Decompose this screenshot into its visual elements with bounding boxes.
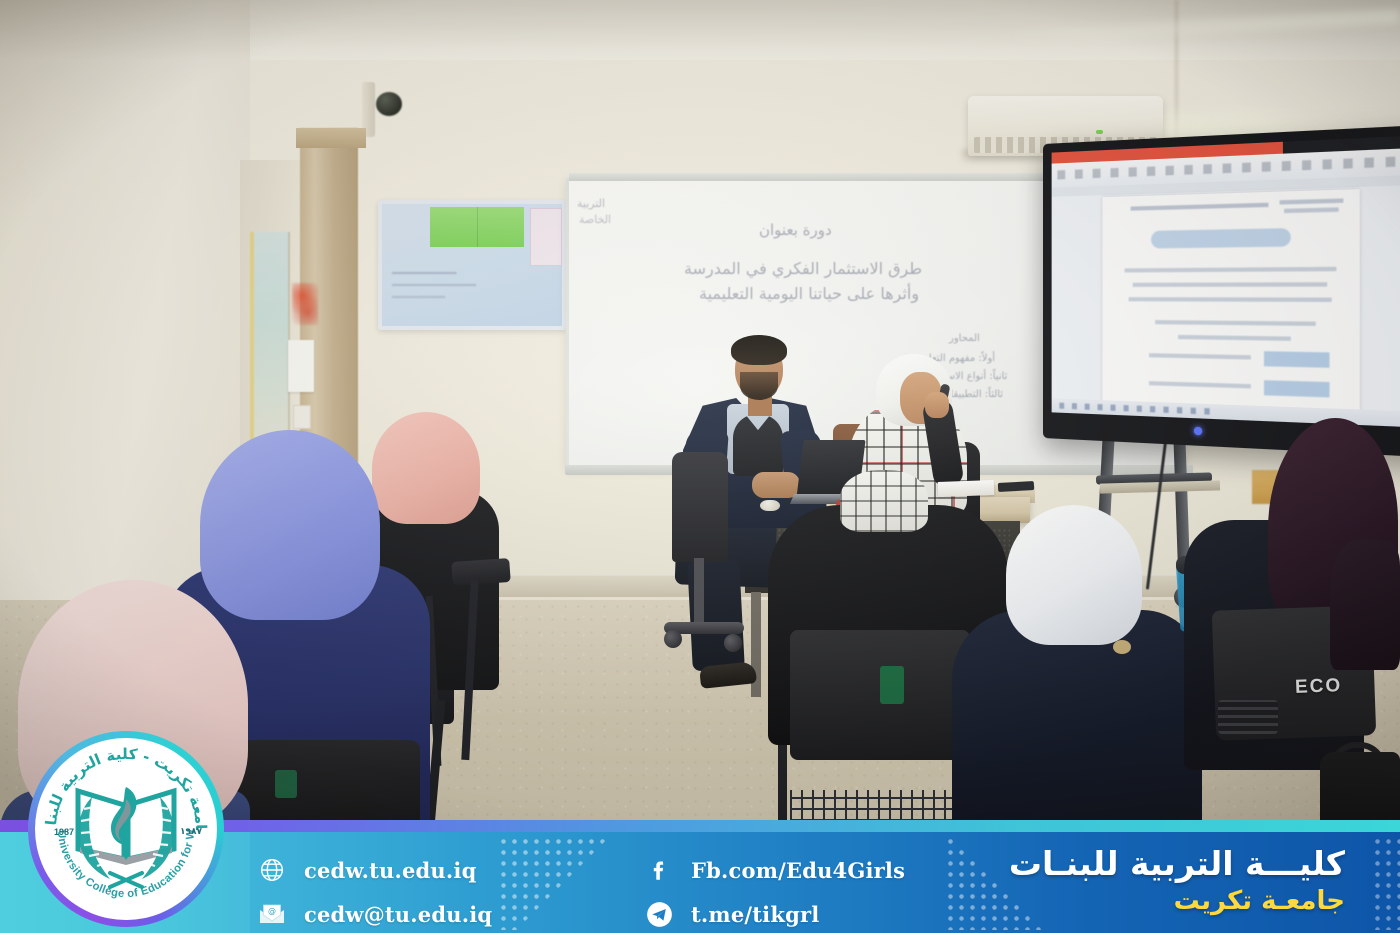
student-4-hijab-checked <box>840 470 928 532</box>
university-logo[interactable]: جامعة تكريت - كلية التربية للبنات Tikrit… <box>28 731 224 927</box>
whiteboard-side-note-1: المحاور <box>949 333 980 344</box>
doc-text-line <box>1155 320 1316 326</box>
doc-signature-field-1 <box>1264 351 1329 368</box>
dot-pattern-left <box>498 836 620 930</box>
student-chair-seat-3 <box>451 558 511 586</box>
chair-brand-label: ECO <box>1295 675 1343 699</box>
facebook-label: Fb.com/Edu4Girls <box>691 858 905 883</box>
whiteboard-corner-note-2: الخاصة <box>579 213 611 226</box>
doc-header-right-2 <box>1284 207 1339 213</box>
facebook-icon <box>645 856 673 884</box>
presenter-man-beard <box>740 372 778 400</box>
office-chair-caster-2 <box>724 634 742 652</box>
whiteboard-line-2: وأثرها على حياتنا اليومية التعليمية <box>699 284 919 303</box>
contact-website[interactable]: cedw.tu.edu.iq <box>258 856 492 884</box>
small-noticeboard <box>378 200 566 330</box>
student-3-hijab-pink <box>372 412 480 524</box>
student-chair-4-sticker <box>880 666 904 704</box>
contact-telegram[interactable]: t.me/tikgrl <box>645 900 905 928</box>
door-frame-top <box>296 128 366 148</box>
svg-text:@: @ <box>268 907 276 916</box>
doc-text-line <box>1149 381 1251 388</box>
board-writing <box>392 268 532 310</box>
email-label: cedw@tu.edu.iq <box>304 902 492 927</box>
website-label: cedw.tu.edu.iq <box>304 858 476 883</box>
ac-led-indicator <box>1096 130 1103 134</box>
doc-text-line <box>1129 297 1332 302</box>
doc-header-right-1 <box>1280 198 1344 204</box>
dot-pattern-right <box>1372 836 1400 930</box>
whiteboard-line-1: طرق الاستثمار الفكري في المدرسة <box>684 259 922 278</box>
institution-name-arabic: كليـــة التربية للبنـات جامعـة تكريت <box>1009 846 1345 917</box>
doc-text-line <box>1149 353 1251 359</box>
college-name-arabic: كليـــة التربية للبنـات <box>1009 846 1345 882</box>
doc-text-line <box>1125 267 1337 273</box>
presenter-man-hair <box>731 335 787 365</box>
doc-text-line <box>1178 335 1291 341</box>
whiteboard-title: دورة بعنوان <box>759 221 832 239</box>
student-5-coat-button <box>1113 640 1131 654</box>
student-chair-2-sticker <box>275 770 297 798</box>
document-page <box>1103 189 1360 417</box>
envelope-icon: @ <box>258 900 286 928</box>
globe-icon <box>258 856 286 884</box>
papers-on-desk <box>938 480 994 497</box>
contact-facebook[interactable]: Fb.com/Edu4Girls <box>645 856 905 884</box>
phone-on-desk <box>998 481 1034 492</box>
computer-mouse <box>760 500 780 511</box>
office-chair-post <box>694 558 704 628</box>
door-notice-paper <box>288 340 314 392</box>
presenter-office-chair <box>672 452 728 562</box>
contact-column-web: cedw.tu.edu.iq @ cedw@tu.edu.iq <box>258 856 492 928</box>
light-switch <box>293 405 311 429</box>
whiteboard-corner-note-1: التربية <box>577 197 605 210</box>
university-name-arabic: جامعـة تكريت <box>1009 886 1345 917</box>
interactive-flat-panel-display[interactable] <box>1043 124 1400 458</box>
office-chair-caster-1 <box>664 630 682 648</box>
green-poster <box>430 207 524 247</box>
student-2-hijab-periwinkle <box>200 430 380 620</box>
doc-highlighted-title <box>1151 228 1291 248</box>
door-decoration <box>292 283 318 325</box>
display-power-led <box>1194 427 1202 436</box>
security-camera-icon <box>376 92 402 116</box>
contact-email[interactable]: @ cedw@tu.edu.iq <box>258 900 492 928</box>
student-5-hijab-white <box>1006 505 1142 645</box>
student-7-hijab <box>1330 540 1400 670</box>
telegram-icon <box>645 900 673 928</box>
doc-header-line <box>1131 203 1269 211</box>
contact-column-social: Fb.com/Edu4Girls t.me/tikgrl <box>645 856 905 928</box>
logo-emblem-icon <box>58 761 194 897</box>
doc-text-line <box>1133 282 1328 287</box>
doc-signature-field-2 <box>1264 380 1329 397</box>
screenshot-root: التربية الخاصة دورة بعنوان طرق الاستثمار… <box>0 0 1400 933</box>
telegram-label: t.me/tikgrl <box>691 902 819 927</box>
pink-notice <box>530 208 562 266</box>
student-chair-6-vent <box>1218 700 1278 734</box>
display-screen <box>1052 135 1400 429</box>
presenter-woman-hand <box>925 392 949 418</box>
